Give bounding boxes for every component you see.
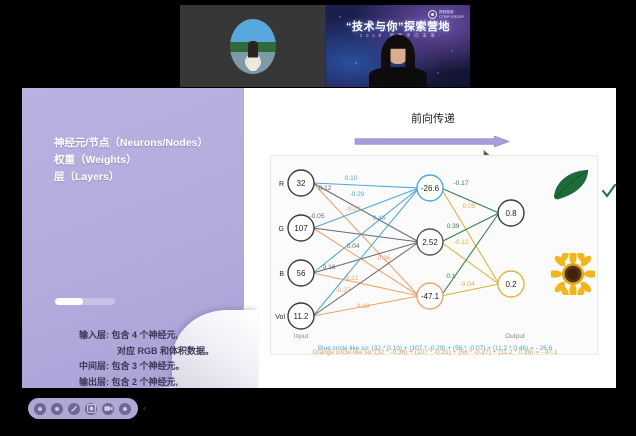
video-strip: “技术与你”探索营地 · 2 0 2 5 · 能 源 手 向 未 来 · 携程集… (180, 5, 470, 87)
body-line-hidden-layer: 中间层: 包含 3 个神经元。 (79, 359, 215, 375)
weight-label-6: 0.04 (347, 243, 360, 250)
weight-label-10: -0.27 (335, 287, 350, 294)
node-label-r: R (279, 181, 284, 188)
forward-pass-title: 前向传递 (333, 110, 533, 126)
weight-labels-input-hidden: 0.10 -0.29 0.12 -0.07 -0.05 0.46 0.04 -0… (309, 175, 390, 310)
banner-title: “技术与你”探索营地 (326, 18, 470, 34)
weight-label-8: 0.16 (323, 264, 336, 271)
weight-label-13: 0.05 (463, 203, 476, 210)
weight-label-12: -0.17 (453, 180, 468, 187)
brand-mark-icon (428, 10, 437, 19)
pencil-icon[interactable] (68, 403, 80, 415)
speaker-body (369, 67, 427, 87)
heading-layers: 层（Layers） (54, 169, 208, 186)
formula-orange: Orange circle like so: (32 * -0.36) + (1… (312, 349, 558, 356)
weight-label-3: -0.07 (345, 206, 360, 213)
weight-label-5: 0.46 (373, 215, 386, 222)
shared-slide[interactable]: 神经元/节点（Neurons/Nodes） 权重（Weights） 层（Laye… (22, 88, 616, 388)
sunflower-icon (551, 253, 595, 295)
node-value-g: 107 (294, 224, 308, 233)
gear-icon[interactable] (51, 403, 63, 415)
checkmark-icon (601, 183, 616, 199)
speaker-figure (367, 35, 429, 87)
formula-orange-svg: Orange circle like so: (32 * -0.36) + (1… (271, 344, 599, 358)
node-label-b: B (279, 271, 284, 278)
more-icon[interactable] (119, 403, 131, 415)
camera-icon[interactable] (102, 403, 114, 415)
weight-label-4: -0.05 (309, 213, 324, 220)
weight-label-9: -0.21 (343, 275, 358, 282)
weight-label-14: 0.39 (447, 223, 460, 230)
slide-headings: 神经元/节点（Neurons/Nodes） 权重（Weights） 层（Laye… (54, 135, 208, 186)
weight-label-16: 0.1 (446, 273, 455, 280)
node-value-h1: -26.6 (421, 184, 440, 193)
avatar (230, 19, 276, 74)
body-line-input-detail: 对应 RGB 和体积数据。 (79, 344, 215, 360)
spotlight-icon[interactable] (85, 403, 97, 415)
node-value-o1: 0.8 (505, 209, 517, 218)
leaf-icon (552, 168, 592, 202)
axis-label-input: Input (294, 333, 309, 340)
slide-progress-bar (55, 298, 115, 305)
brand-logo: 携程集团 CTRIP GROUP (428, 10, 464, 19)
weight-label-0: 0.10 (345, 175, 358, 182)
weight-label-11: 0.18 (357, 303, 370, 310)
speaker-video-tile[interactable]: “技术与你”探索营地 · 2 0 2 5 · 能 源 手 向 未 来 · 携程集… (325, 5, 470, 87)
node-value-h3: -47.1 (421, 292, 440, 301)
weight-label-17: -0.04 (459, 281, 474, 288)
input-layer-nodes (288, 170, 314, 329)
neural-network-svg: 32 107 56 11.2 -26.6 2.52 -47.1 0.8 0.2 … (271, 156, 599, 356)
node-label-vol: Vol (275, 314, 285, 321)
collapse-toolbar-button[interactable]: ‹ (143, 404, 146, 413)
node-value-o2: 0.2 (505, 280, 517, 289)
forward-arrow-icon (348, 136, 516, 147)
record-icon[interactable] (34, 403, 46, 415)
self-video-tile[interactable] (180, 5, 325, 87)
node-value-b: 56 (297, 269, 306, 278)
axis-label-output: Output (505, 333, 525, 340)
app-root: “技术与你”探索营地 · 2 0 2 5 · 能 源 手 向 未 来 · 携程集… (0, 0, 636, 436)
heading-neurons: 神经元/节点（Neurons/Nodes） (54, 135, 208, 152)
slide-body-text: 输入层: 包含 4 个神经元, 对应 RGB 和体积数据。 中间层: 包含 3 … (79, 328, 215, 388)
neural-network-diagram: 32 107 56 11.2 -26.6 2.52 -47.1 0.8 0.2 … (270, 155, 598, 355)
body-line-output-layer: 输出层: 包含 2 个神经元, (79, 375, 215, 389)
node-value-r: 32 (297, 179, 306, 188)
edges-input-to-hidden (313, 183, 419, 316)
weight-label-15: -0.12 (453, 239, 468, 246)
meeting-toolbar[interactable]: ‹ (28, 398, 138, 419)
node-value-h2: 2.52 (422, 238, 438, 247)
slide-progress-fill (55, 298, 83, 305)
brand-name-en: CTRIP GROUP (439, 15, 464, 19)
weight-label-2: 0.12 (319, 185, 332, 192)
node-label-g: G (279, 226, 284, 233)
node-value-vol: 11.2 (294, 312, 310, 321)
weight-label-7: -0.36 (375, 255, 390, 262)
body-line-input-layer: 输入层: 包含 4 个神经元, (79, 328, 215, 344)
heading-weights: 权重（Weights） (54, 152, 208, 169)
weight-label-1: -0.29 (349, 191, 364, 198)
